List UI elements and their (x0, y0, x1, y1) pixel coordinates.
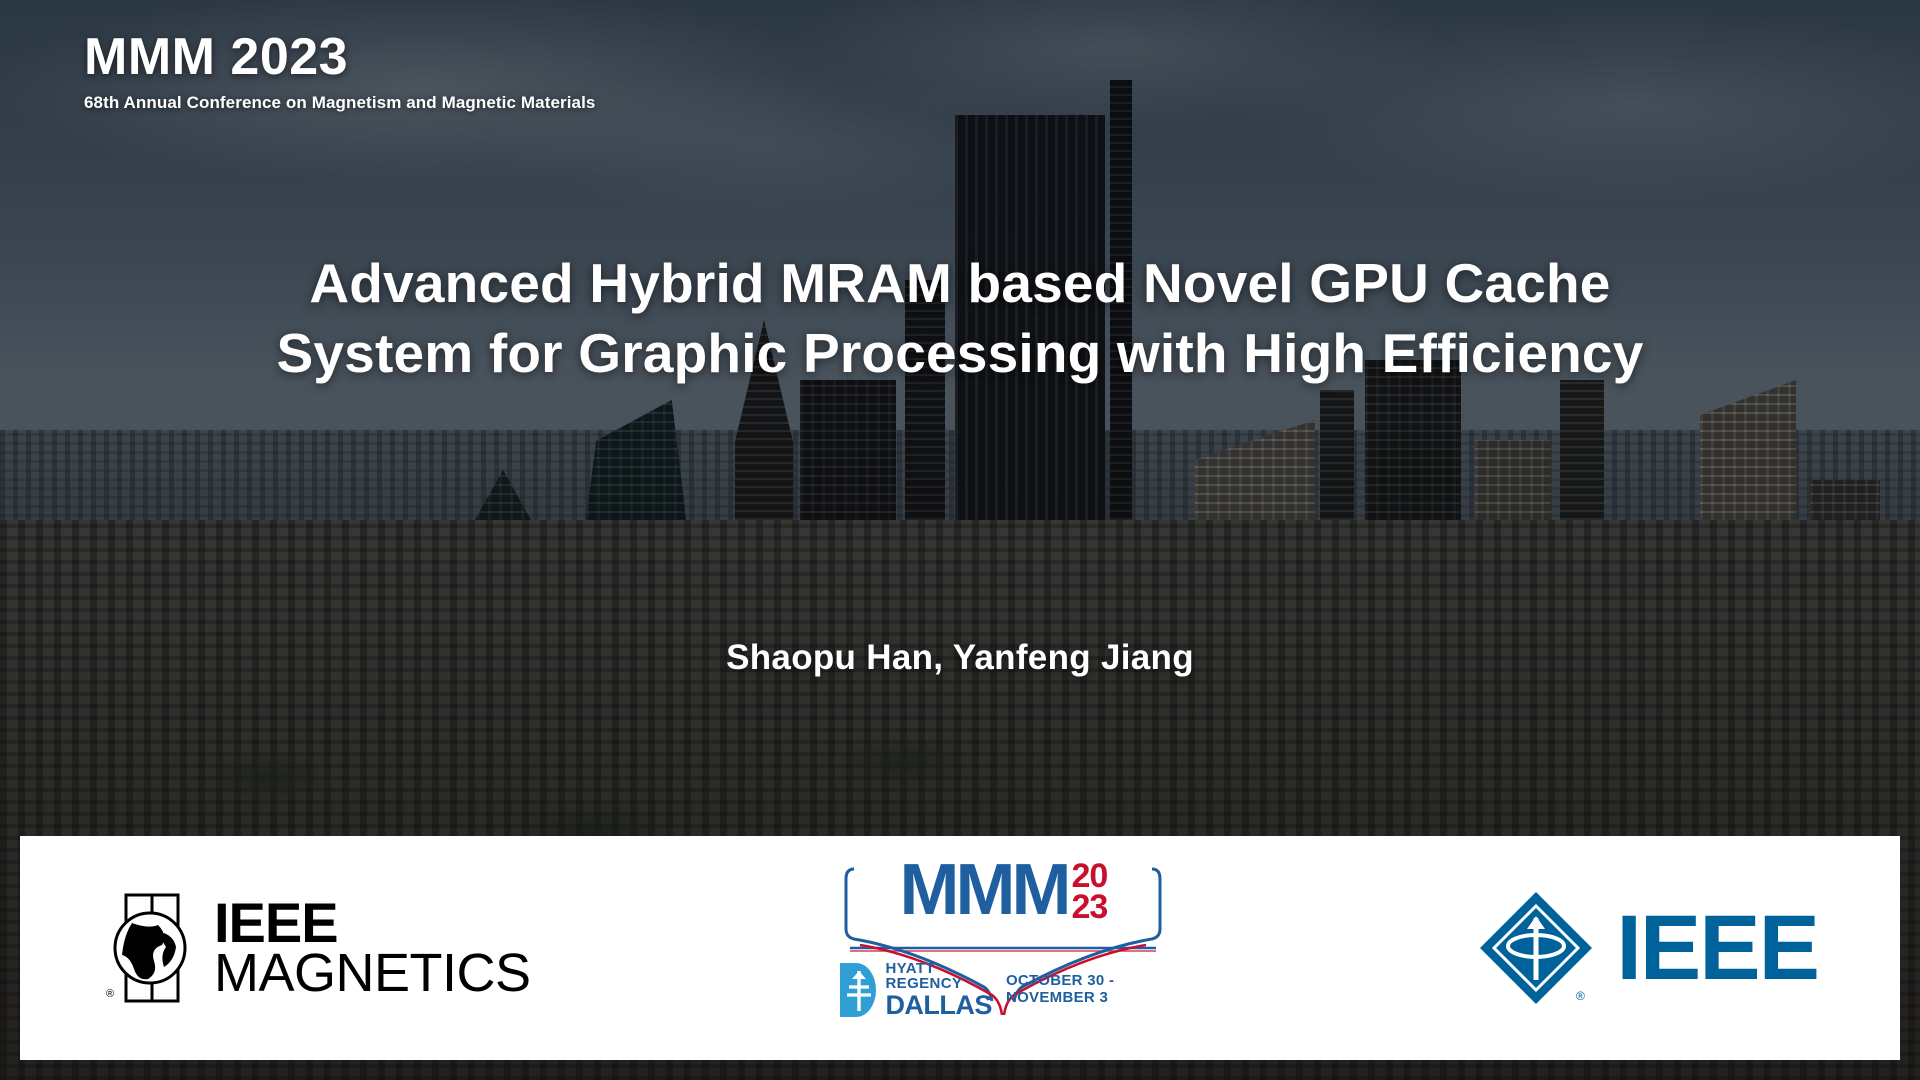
magnetics-line-1: IEEE (214, 897, 531, 949)
magnetics-line-2: MAGNETICS (214, 949, 531, 999)
title-line-2: System for Graphic Processing with High … (90, 318, 1830, 388)
sponsor-logo-bar: ® IEEE MAGNETICS MMM 20 23 (20, 836, 1900, 1060)
svg-text:®: ® (1576, 989, 1585, 1003)
ieee-magnetics-logo: ® IEEE MAGNETICS (102, 889, 531, 1007)
ieee-diamond-icon: ® (1476, 888, 1596, 1008)
ieee-logo: ® IEEE (1476, 888, 1818, 1008)
dates-line-1: OCTOBER 30 - (1006, 973, 1114, 990)
conference-name: MMM 2023 (84, 30, 595, 85)
mmm-conference-logo: MMM 20 23 (838, 853, 1168, 1043)
slide-content: MMM 2023 68th Annual Conference on Magne… (0, 0, 1920, 1080)
presentation-title: Advanced Hybrid MRAM based Novel GPU Cac… (0, 248, 1920, 389)
conference-branding: MMM 2023 68th Annual Conference on Magne… (84, 30, 595, 113)
ieee-wordmark: IEEE (1616, 902, 1818, 994)
title-line-1: Advanced Hybrid MRAM based Novel GPU Cac… (90, 248, 1830, 318)
venue-line-3: DALLAS (885, 992, 992, 1019)
dallas-venue-text: HYATT REGENCY DALLAS (885, 961, 992, 1019)
author-list: Shaopu Han, Yanfeng Jiang (0, 638, 1920, 678)
venue-line-2: REGENCY (885, 976, 992, 991)
conference-subtitle: 68th Annual Conference on Magnetism and … (84, 93, 595, 113)
ieee-magnetics-wordmark: IEEE MAGNETICS (214, 897, 531, 998)
venue-line-1: HYATT (885, 961, 992, 976)
dallas-d-icon (838, 961, 880, 1019)
mmm-dates: OCTOBER 30 - NOVEMBER 3 (1006, 973, 1114, 1007)
svg-text:®: ® (106, 988, 114, 1000)
dates-line-2: NOVEMBER 3 (1006, 990, 1114, 1007)
ieee-globe-icon: ® (102, 889, 198, 1007)
dallas-venue-block: HYATT REGENCY DALLAS (838, 961, 992, 1019)
mmm-venue-row: HYATT REGENCY DALLAS OCTOBER 30 - NOVEMB… (838, 961, 1168, 1019)
